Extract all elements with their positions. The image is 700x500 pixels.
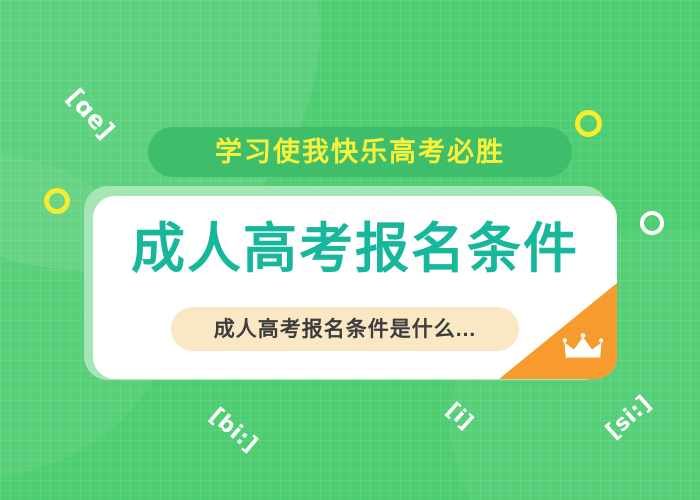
top-banner: 学习使我快乐高考必胜 [148, 127, 572, 177]
top-banner-text: 学习使我快乐高考必胜 [215, 139, 505, 166]
poster-canvas: [ɑe] [bi:] [i] [si:] 学习使我快乐高考必胜 成人高考报名条件… [0, 0, 700, 500]
subtitle-text: 成人高考报名条件是什么... [214, 319, 477, 340]
main-card: 成人高考报名条件 成人高考报名条件是什么... [93, 196, 617, 379]
subtitle-pill: 成人高考报名条件是什么... [171, 307, 519, 351]
card-title: 成人高考报名条件 [93, 222, 617, 276]
decorative-ring-yellow-left [44, 188, 70, 214]
crown-icon [563, 333, 603, 363]
decorative-ring-yellow-top [575, 110, 602, 137]
decorative-ring-white-right [640, 211, 664, 235]
